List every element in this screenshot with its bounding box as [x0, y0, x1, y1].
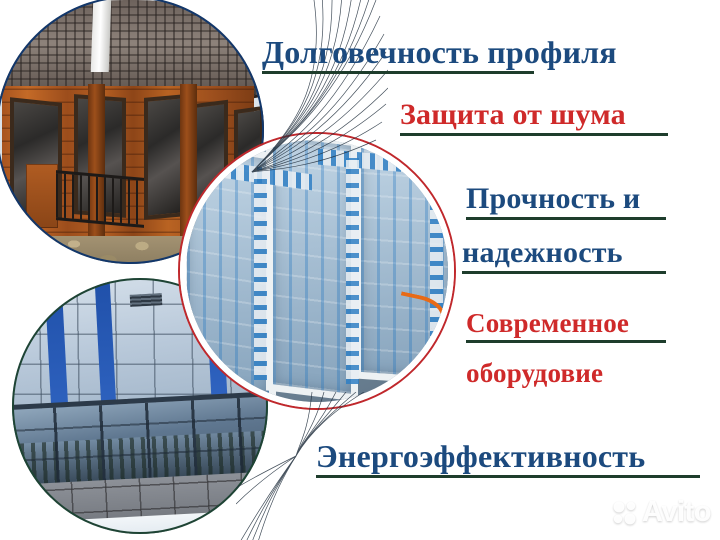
corner-post — [88, 84, 105, 252]
headline-text: Защита от шума — [400, 100, 668, 130]
headline-strength: Прочность и — [466, 184, 666, 220]
headline-text: оборудовие — [466, 360, 603, 387]
veka-branding-tape — [346, 158, 359, 384]
headline-equipment-second-line: оборудовие — [466, 360, 603, 390]
headline-underline — [262, 71, 534, 74]
avito-watermark: Avito — [612, 498, 711, 527]
headline-underline — [462, 271, 666, 274]
headline-text: Долговечность профиля — [262, 36, 617, 68]
headline-underline — [316, 475, 700, 478]
roof-ridge — [91, 0, 112, 72]
headline-noise-protection: Защита от шума — [400, 100, 668, 136]
veka-branding-tape — [254, 170, 267, 380]
headline-underline — [466, 340, 666, 343]
headline-text: Современное — [466, 310, 666, 337]
wall-vent — [130, 293, 163, 307]
poster-canvas: Долговечность профиля Защита от шума Про… — [0, 0, 720, 540]
headline-durability: Долговечность профиля — [262, 36, 617, 74]
balcony-railing — [56, 170, 144, 228]
avito-dots-icon — [612, 500, 638, 526]
headline-modern-equipment: Современное — [466, 310, 666, 343]
headline-text: Прочность и — [466, 184, 666, 214]
headline-text: надежность — [462, 238, 666, 268]
headline-underline — [400, 133, 668, 136]
headline-text: Энергоэффективность — [316, 440, 700, 472]
headline-underline — [466, 217, 666, 220]
headline-reliability: надежность — [462, 238, 666, 274]
brick-column — [26, 164, 58, 228]
avito-wordmark: Avito — [642, 498, 711, 527]
headline-energy-efficiency: Энергоэффективность — [316, 440, 700, 478]
photo-veka-windows — [186, 140, 448, 402]
